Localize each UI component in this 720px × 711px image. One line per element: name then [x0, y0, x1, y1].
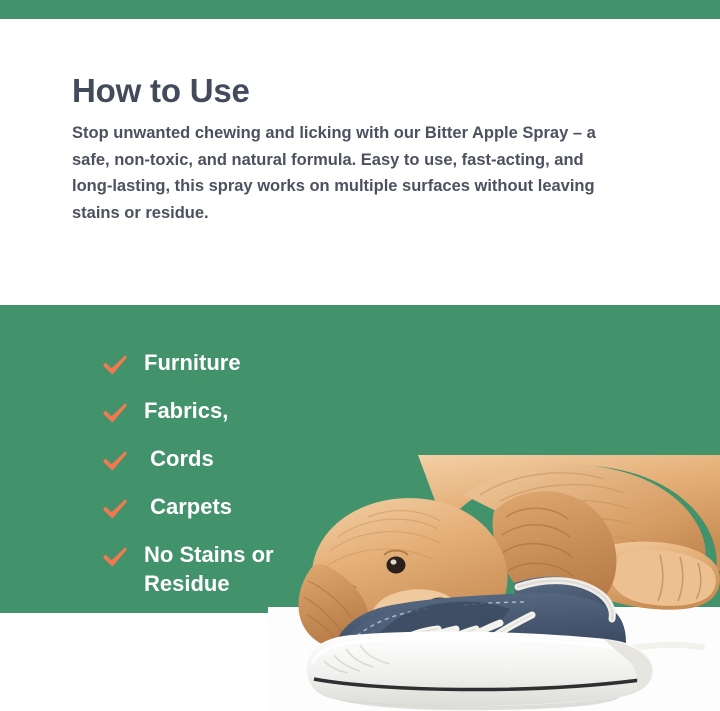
intro-description: Stop unwanted chewing and licking with o…: [72, 120, 617, 227]
check-mark-icon: [100, 446, 130, 476]
feature-label: No Stains or Residue: [144, 540, 274, 598]
check-mark-icon: [100, 494, 130, 524]
list-item: Fabrics,: [100, 396, 274, 444]
check-mark-icon: [100, 350, 130, 380]
page-title: How to Use: [72, 72, 652, 110]
check-mark-icon: [100, 542, 130, 572]
list-item: No Stains or Residue: [100, 540, 274, 598]
feature-list: Furniture Fabrics, Cords: [100, 348, 274, 598]
feature-label: Furniture: [144, 348, 241, 377]
check-mark-icon: [100, 398, 130, 428]
feature-label: Carpets: [144, 492, 232, 521]
features-panel: Furniture Fabrics, Cords: [0, 305, 720, 613]
intro-section: How to Use Stop unwanted chewing and lic…: [72, 72, 652, 227]
feature-label: Cords: [144, 444, 214, 473]
top-green-band: [0, 0, 720, 19]
list-item: Carpets: [100, 492, 274, 540]
feature-label: Fabrics,: [144, 396, 228, 425]
list-item: Furniture: [100, 348, 274, 396]
list-item: Cords: [100, 444, 274, 492]
product-feature-card: How to Use Stop unwanted chewing and lic…: [0, 0, 720, 711]
